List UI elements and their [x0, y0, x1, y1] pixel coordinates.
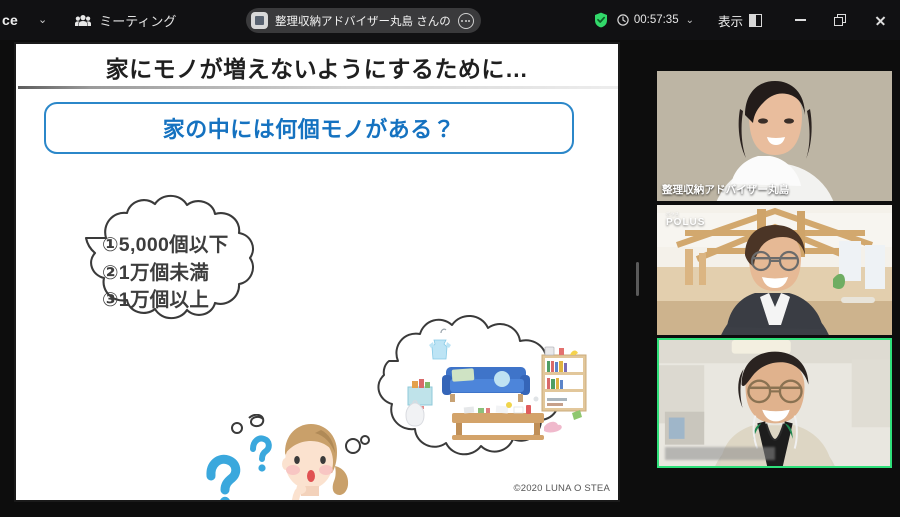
- thinking-woman-icon: [201, 414, 381, 502]
- meeting-window: ce ⌄ ミーティング 整理収納アドバイザー丸島 さんの: [0, 0, 900, 517]
- answer-option-2: ②1万個未満: [102, 260, 352, 288]
- answer-cloud: ①5,000個以下 ②1万個未満 ③1万個以上: [58, 194, 368, 354]
- participant-name-1: 整理収納アドバイザー丸島: [662, 182, 789, 197]
- slide-headline-box: 家の中には何個モノがある？: [44, 102, 574, 154]
- polus-watermark-sub: ポラス: [666, 211, 705, 217]
- answer-list: ①5,000個以下 ②1万個未満 ③1万個以上: [102, 232, 352, 315]
- answer-option-3: ③1万個以上: [102, 287, 352, 315]
- dream-cloud-icon: [346, 309, 620, 459]
- shield-check-icon[interactable]: [594, 12, 608, 28]
- answer-option-1: ①5,000個以下: [102, 232, 352, 260]
- participant-tile-1[interactable]: 整理収納アドバイザー丸島: [657, 71, 892, 201]
- cluttered-room-illustration: [346, 309, 620, 459]
- meeting-tab-label: ミーティング: [99, 11, 176, 30]
- thinking-woman-illustration: [201, 414, 381, 502]
- screen-share-pill[interactable]: 整理収納アドバイザー丸島 さんの: [246, 8, 481, 33]
- screen-share-label: 整理収納アドバイザー丸島 さんの: [275, 13, 451, 29]
- participant-tile-3[interactable]: [657, 338, 892, 468]
- timer-value: 00:57:35: [634, 14, 679, 26]
- meeting-tab[interactable]: ミーティング: [75, 11, 176, 30]
- participant-tile-2[interactable]: ポラス POLUS: [657, 205, 892, 335]
- plush-toy-icon: [544, 422, 562, 433]
- view-button[interactable]: 表示: [718, 11, 762, 30]
- workspace-name[interactable]: ce: [0, 12, 18, 28]
- panel-resize-handle[interactable]: [630, 40, 644, 517]
- presentation-slide: 家にモノが増えないようにするために… 家の中には何個モノがある？ ①5,000個…: [14, 42, 620, 502]
- window-controls: [780, 0, 900, 40]
- workspace-chevron-down-icon[interactable]: ⌄: [32, 11, 53, 30]
- clock-icon: [617, 14, 629, 26]
- drag-handle-icon: [636, 262, 639, 296]
- restore-icon[interactable]: [820, 0, 860, 40]
- layout-icon: [749, 14, 762, 27]
- slide-headline-text: 家の中には何個モノがある？: [163, 112, 456, 144]
- minimize-icon[interactable]: [780, 0, 820, 40]
- app-window-icon: [251, 12, 268, 29]
- view-button-label: 表示: [718, 11, 743, 30]
- title-bar-right: 00:57:35 ⌄ 表示: [594, 0, 900, 40]
- title-bar: ce ⌄ ミーティング 整理収納アドバイザー丸島 さんの: [0, 0, 900, 40]
- meeting-timer[interactable]: 00:57:35 ⌄: [617, 14, 694, 26]
- polus-watermark: ポラス POLUS: [666, 211, 705, 228]
- bookshelf-icon: [542, 347, 586, 411]
- timer-chevron-down-icon[interactable]: ⌄: [686, 15, 694, 26]
- screen-share-stage[interactable]: 家にモノが増えないようにするために… 家の中には何個モノがある？ ①5,000個…: [0, 40, 632, 517]
- blurred-overlay: [665, 447, 775, 460]
- close-icon[interactable]: [860, 0, 900, 40]
- slide-copyright: ©2020 LUNA O STEA: [514, 483, 610, 494]
- participant-video-rail: 整理収納アドバイザー丸島: [644, 40, 900, 517]
- slide-title: 家にモノが増えないようにするために…: [16, 50, 618, 84]
- title-bar-left: ce ⌄ ミーティング: [0, 0, 176, 40]
- polus-watermark-text: POLUS: [666, 217, 705, 228]
- people-icon: [75, 14, 91, 27]
- more-options-icon[interactable]: [458, 13, 474, 29]
- title-divider: [18, 86, 618, 89]
- bag-icon: [406, 403, 424, 426]
